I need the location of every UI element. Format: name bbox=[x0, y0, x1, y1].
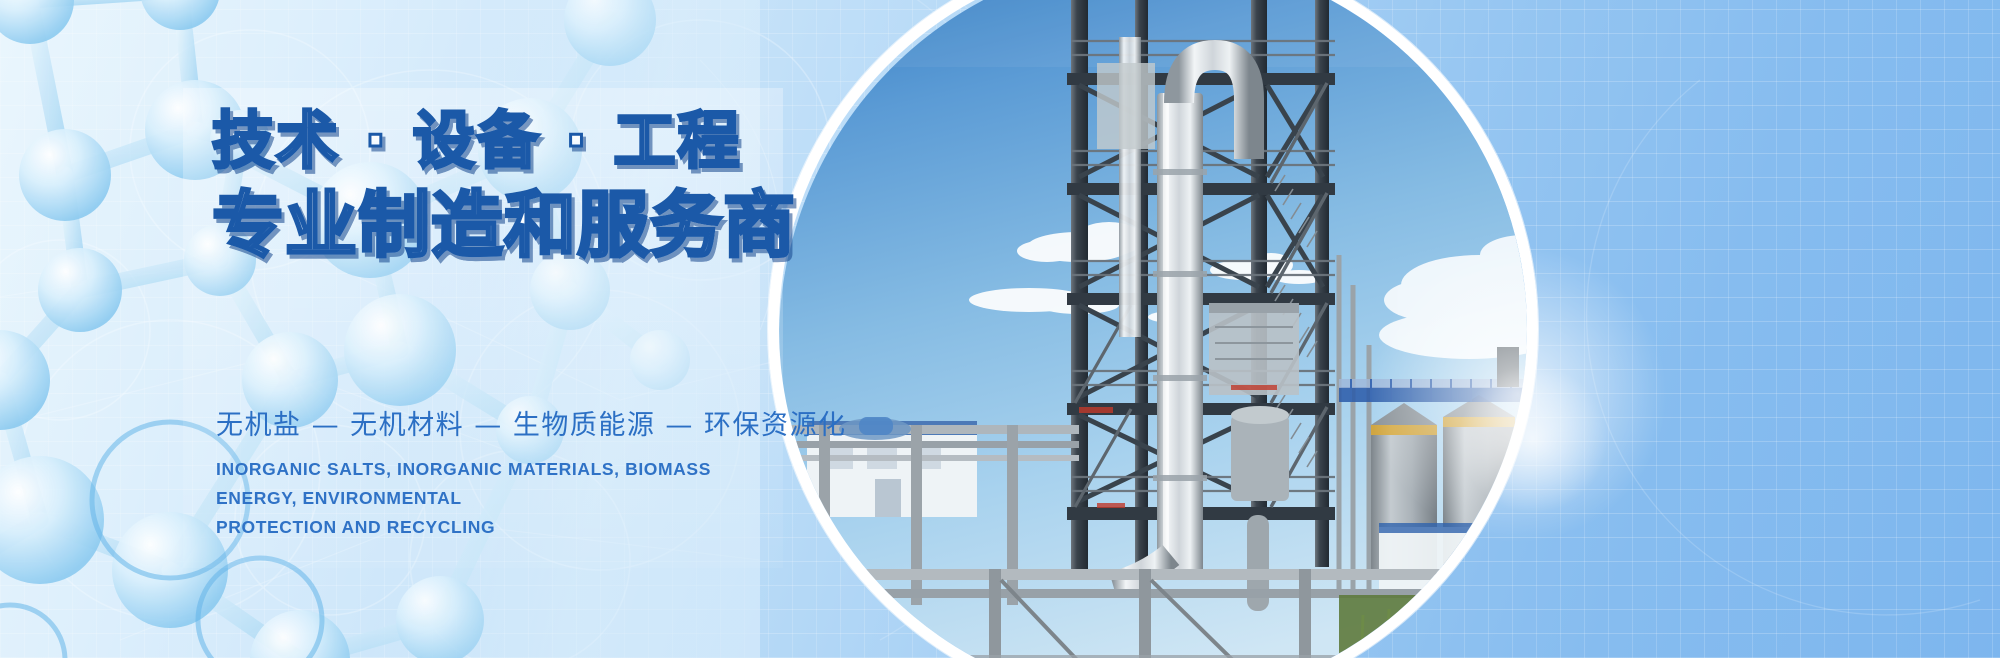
molecule-fade-overlay bbox=[0, 0, 760, 658]
headline-line-2: 专业制造和服务商 bbox=[212, 182, 852, 268]
subtitle-english-line-2: PROTECTION AND RECYCLING bbox=[216, 513, 776, 542]
photo-white-ring bbox=[768, 0, 1538, 658]
molecule-illustration bbox=[0, 0, 690, 658]
subtitle-chinese: 无机盐 — 无机材料 — 生物质能源 — 环保资源化 bbox=[216, 406, 847, 446]
industrial-plant-photo bbox=[768, 0, 1538, 658]
photo-clip bbox=[779, 0, 1527, 658]
subtitle-english-line-1: INORGANIC SALTS, INORGANIC MATERIALS, BI… bbox=[216, 455, 776, 513]
hero-banner: 技术 · 设备 · 工程 专业制造和服务商 无机盐 — 无机材料 — 生物质能源… bbox=[0, 0, 2000, 658]
headline-line-1: 技术 · 设备 · 工程 bbox=[212, 104, 852, 178]
plant-photo-svg bbox=[779, 0, 1527, 658]
subtitle-english: INORGANIC SALTS, INORGANIC MATERIALS, BI… bbox=[216, 455, 776, 542]
headline-block: 技术 · 设备 · 工程 专业制造和服务商 bbox=[212, 104, 852, 268]
